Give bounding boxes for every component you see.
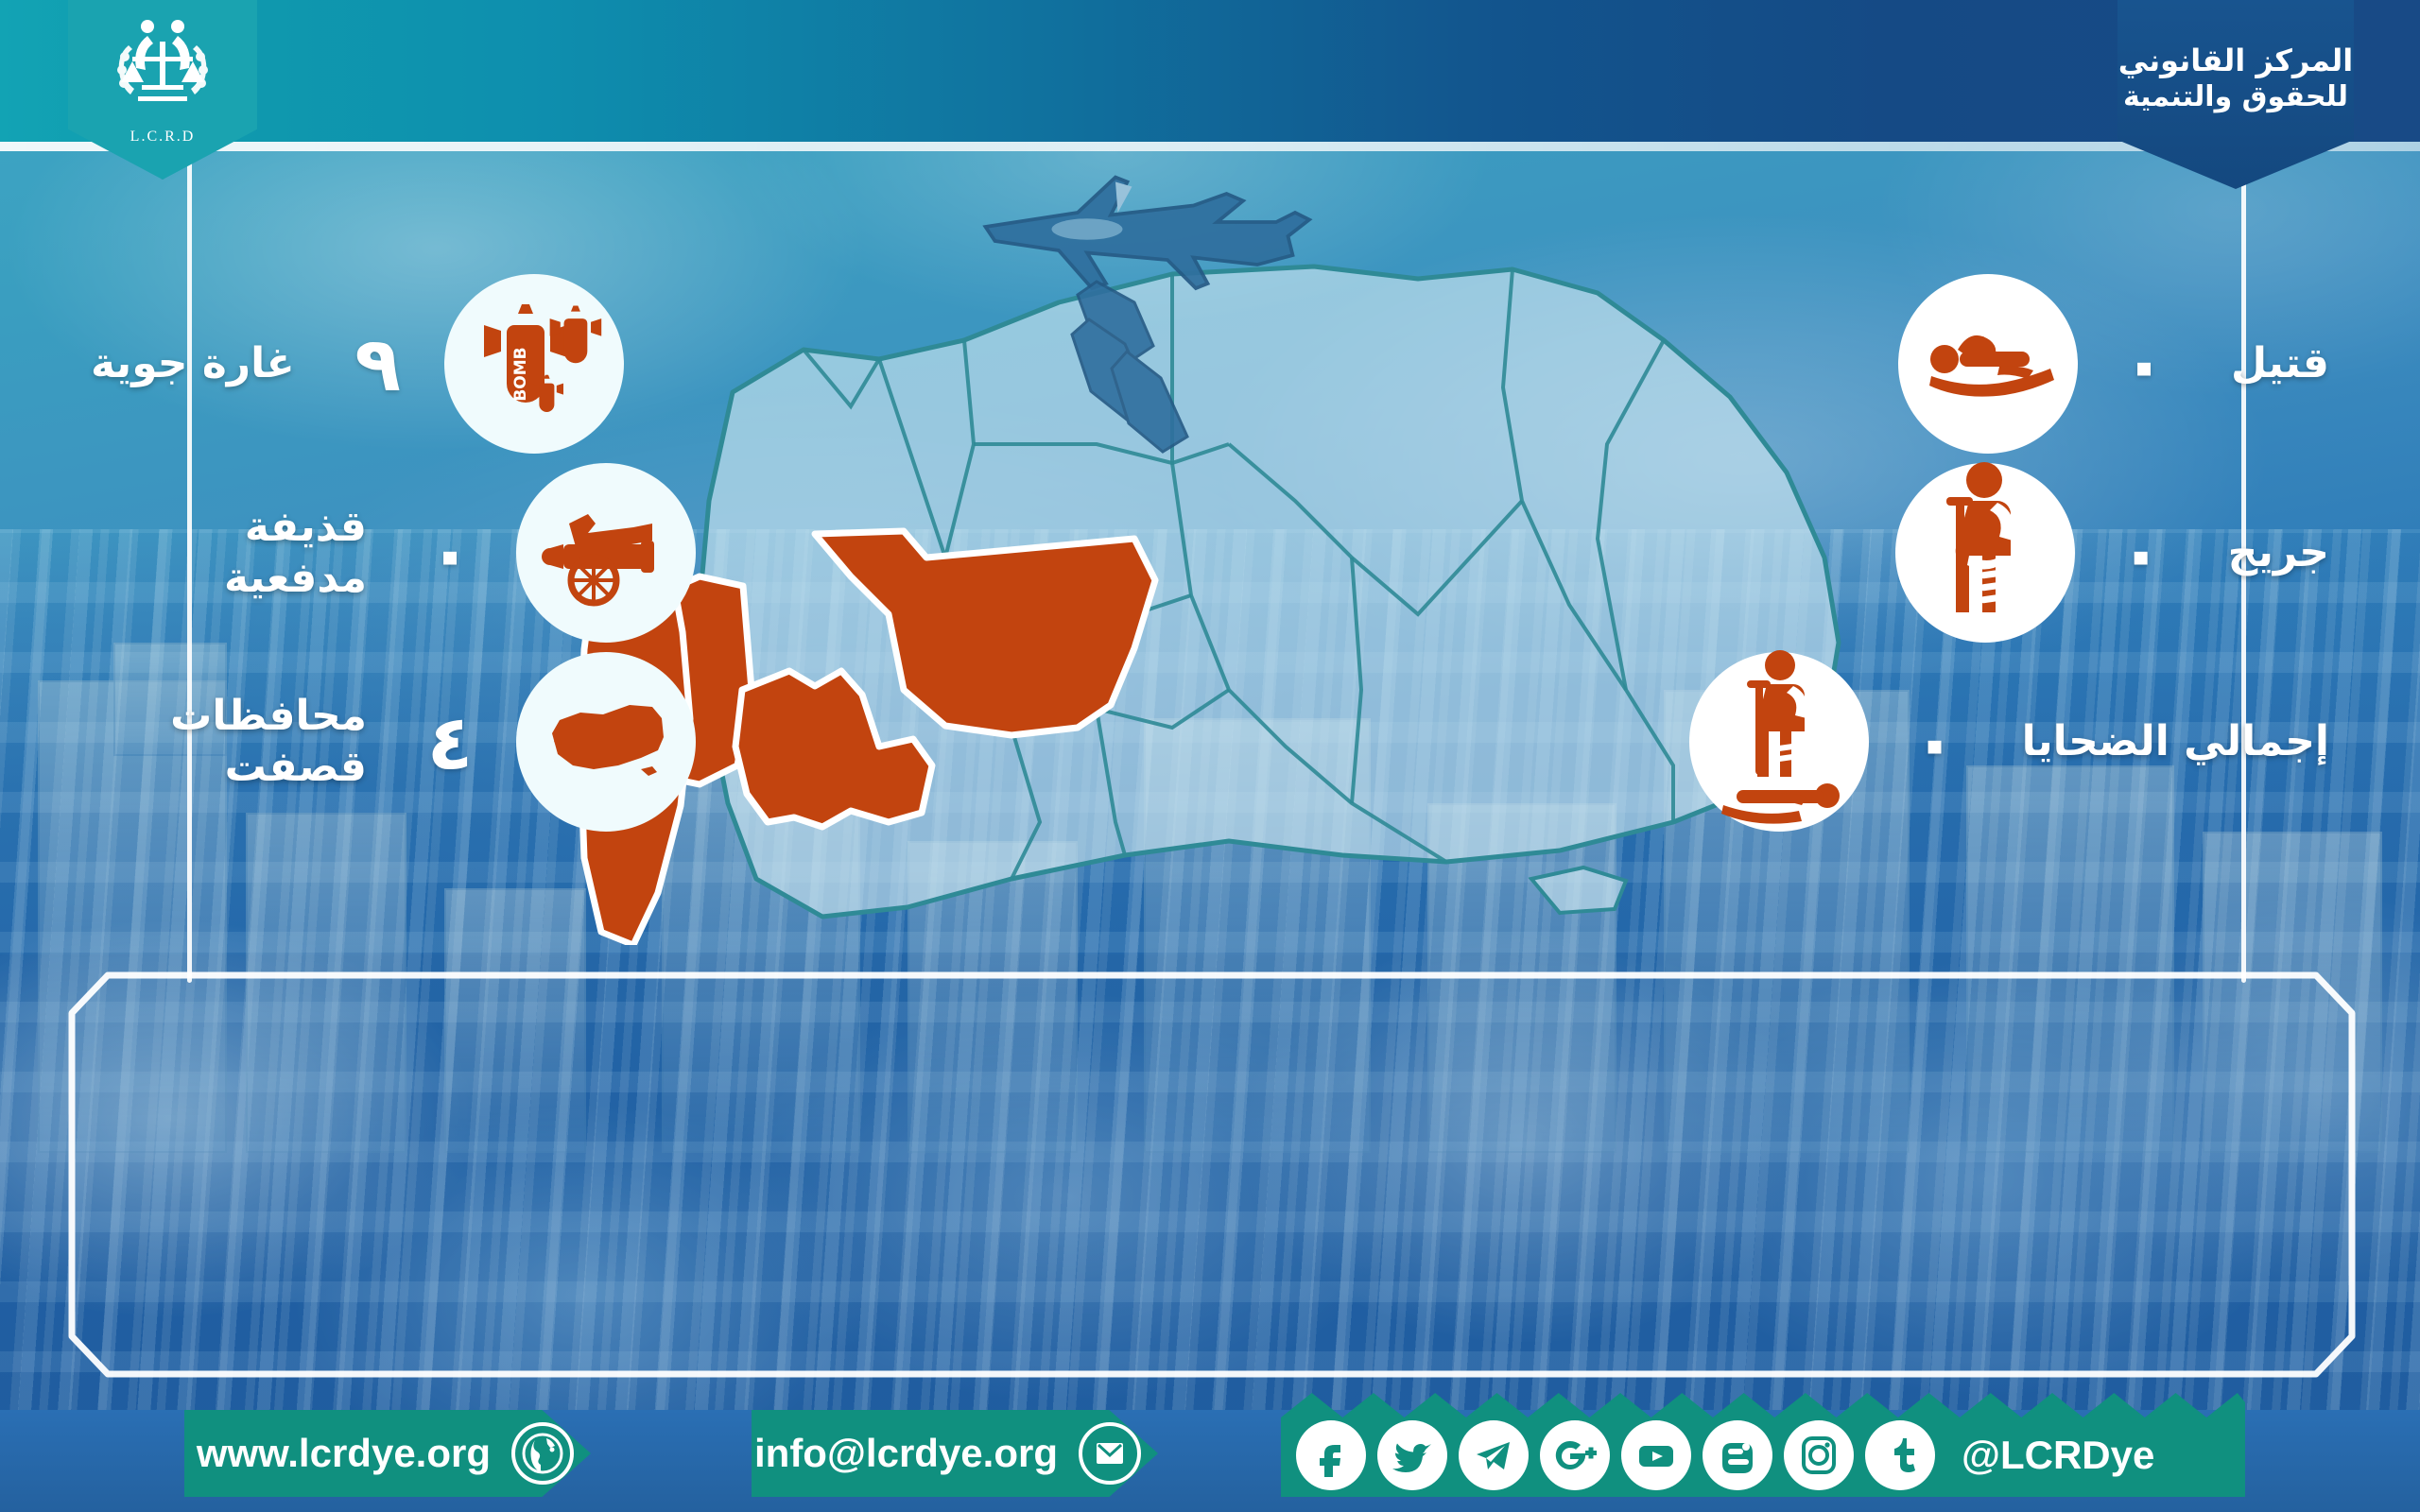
- bomb-icon: BOMB: [444, 274, 624, 454]
- website-chip[interactable]: www.lcrdye.org: [184, 1410, 591, 1497]
- website-url: www.lcrdye.org: [197, 1431, 491, 1476]
- svg-text:BOMB: BOMB: [511, 347, 530, 401]
- tumblr-icon[interactable]: [1865, 1420, 1935, 1490]
- facebook-icon[interactable]: [1296, 1420, 1366, 1490]
- stat-row-artillery[interactable]: ٠ قذيفة مدفعية: [91, 463, 696, 643]
- scales-of-justice-icon: [106, 13, 219, 134]
- envelope-icon: [1079, 1422, 1141, 1485]
- stat-value-artillery: ٠: [384, 509, 516, 597]
- stat-row-airstrikes[interactable]: BOMB ٩ غارة ج: [91, 274, 624, 454]
- stat-label-artillery: قذيفة مدفعية: [91, 502, 384, 603]
- stat-row-governorates[interactable]: ٤ محافظات قصفت: [91, 652, 696, 832]
- org-name-line2: للحقوق والتنمية: [2123, 79, 2348, 115]
- content-box-text: [106, 1009, 2318, 1340]
- casualty-dead-icon: [1898, 274, 2078, 454]
- stat-row-total-victims[interactable]: ٠ إجمالي الضحايا: [1689, 652, 2329, 832]
- stat-label-total-victims: إجمالي الضحايا: [2001, 716, 2329, 767]
- yemen-map-icon: [516, 652, 696, 832]
- stat-label-killed: قتيل: [2210, 338, 2329, 389]
- stat-value-total-victims: ٠: [1869, 698, 2001, 786]
- googleplus-icon[interactable]: [1540, 1420, 1610, 1490]
- stat-value-governorates: ٤: [384, 698, 516, 786]
- stat-label-airstrikes: غارة جوية: [91, 338, 312, 389]
- globe-icon: [511, 1422, 574, 1485]
- infographic-poster: BOMB ٩ غارة ج: [0, 0, 2420, 1512]
- stat-label-governorates: محافظات قصفت: [91, 691, 384, 792]
- stat-value-airstrikes: ٩: [312, 320, 444, 408]
- stat-value-killed: ٠: [2078, 320, 2210, 408]
- stat-label-injured: جريح: [2207, 527, 2329, 578]
- blogger-icon[interactable]: [1703, 1420, 1772, 1490]
- instagram-icon[interactable]: [1784, 1420, 1854, 1490]
- twitter-icon[interactable]: [1377, 1420, 1447, 1490]
- casualty-injured-icon: [1895, 463, 2075, 643]
- social-handle: @LCRDye: [1962, 1433, 2154, 1478]
- youtube-icon[interactable]: [1621, 1420, 1691, 1490]
- email-chip[interactable]: info@lcrdye.org: [752, 1410, 1158, 1497]
- stat-row-killed[interactable]: ٠ قتيل: [1898, 274, 2329, 454]
- telegram-icon[interactable]: [1459, 1420, 1529, 1490]
- lcrd-logo-label: L.C.R.D: [130, 129, 196, 146]
- stat-value-injured: ٠: [2075, 509, 2207, 597]
- org-name-line1: المركز القانوني: [2118, 42, 2354, 79]
- email-address: info@lcrdye.org: [754, 1431, 1058, 1476]
- casualty-total-icon: [1689, 652, 1869, 832]
- social-links-bar: @LCRDye: [1281, 1393, 2245, 1497]
- header-bar: [0, 0, 2420, 142]
- header-underline: [0, 142, 2420, 151]
- stat-row-injured[interactable]: ٠ جريح: [1895, 463, 2329, 643]
- cannon-icon: [516, 463, 696, 643]
- content-box: [68, 971, 2356, 1378]
